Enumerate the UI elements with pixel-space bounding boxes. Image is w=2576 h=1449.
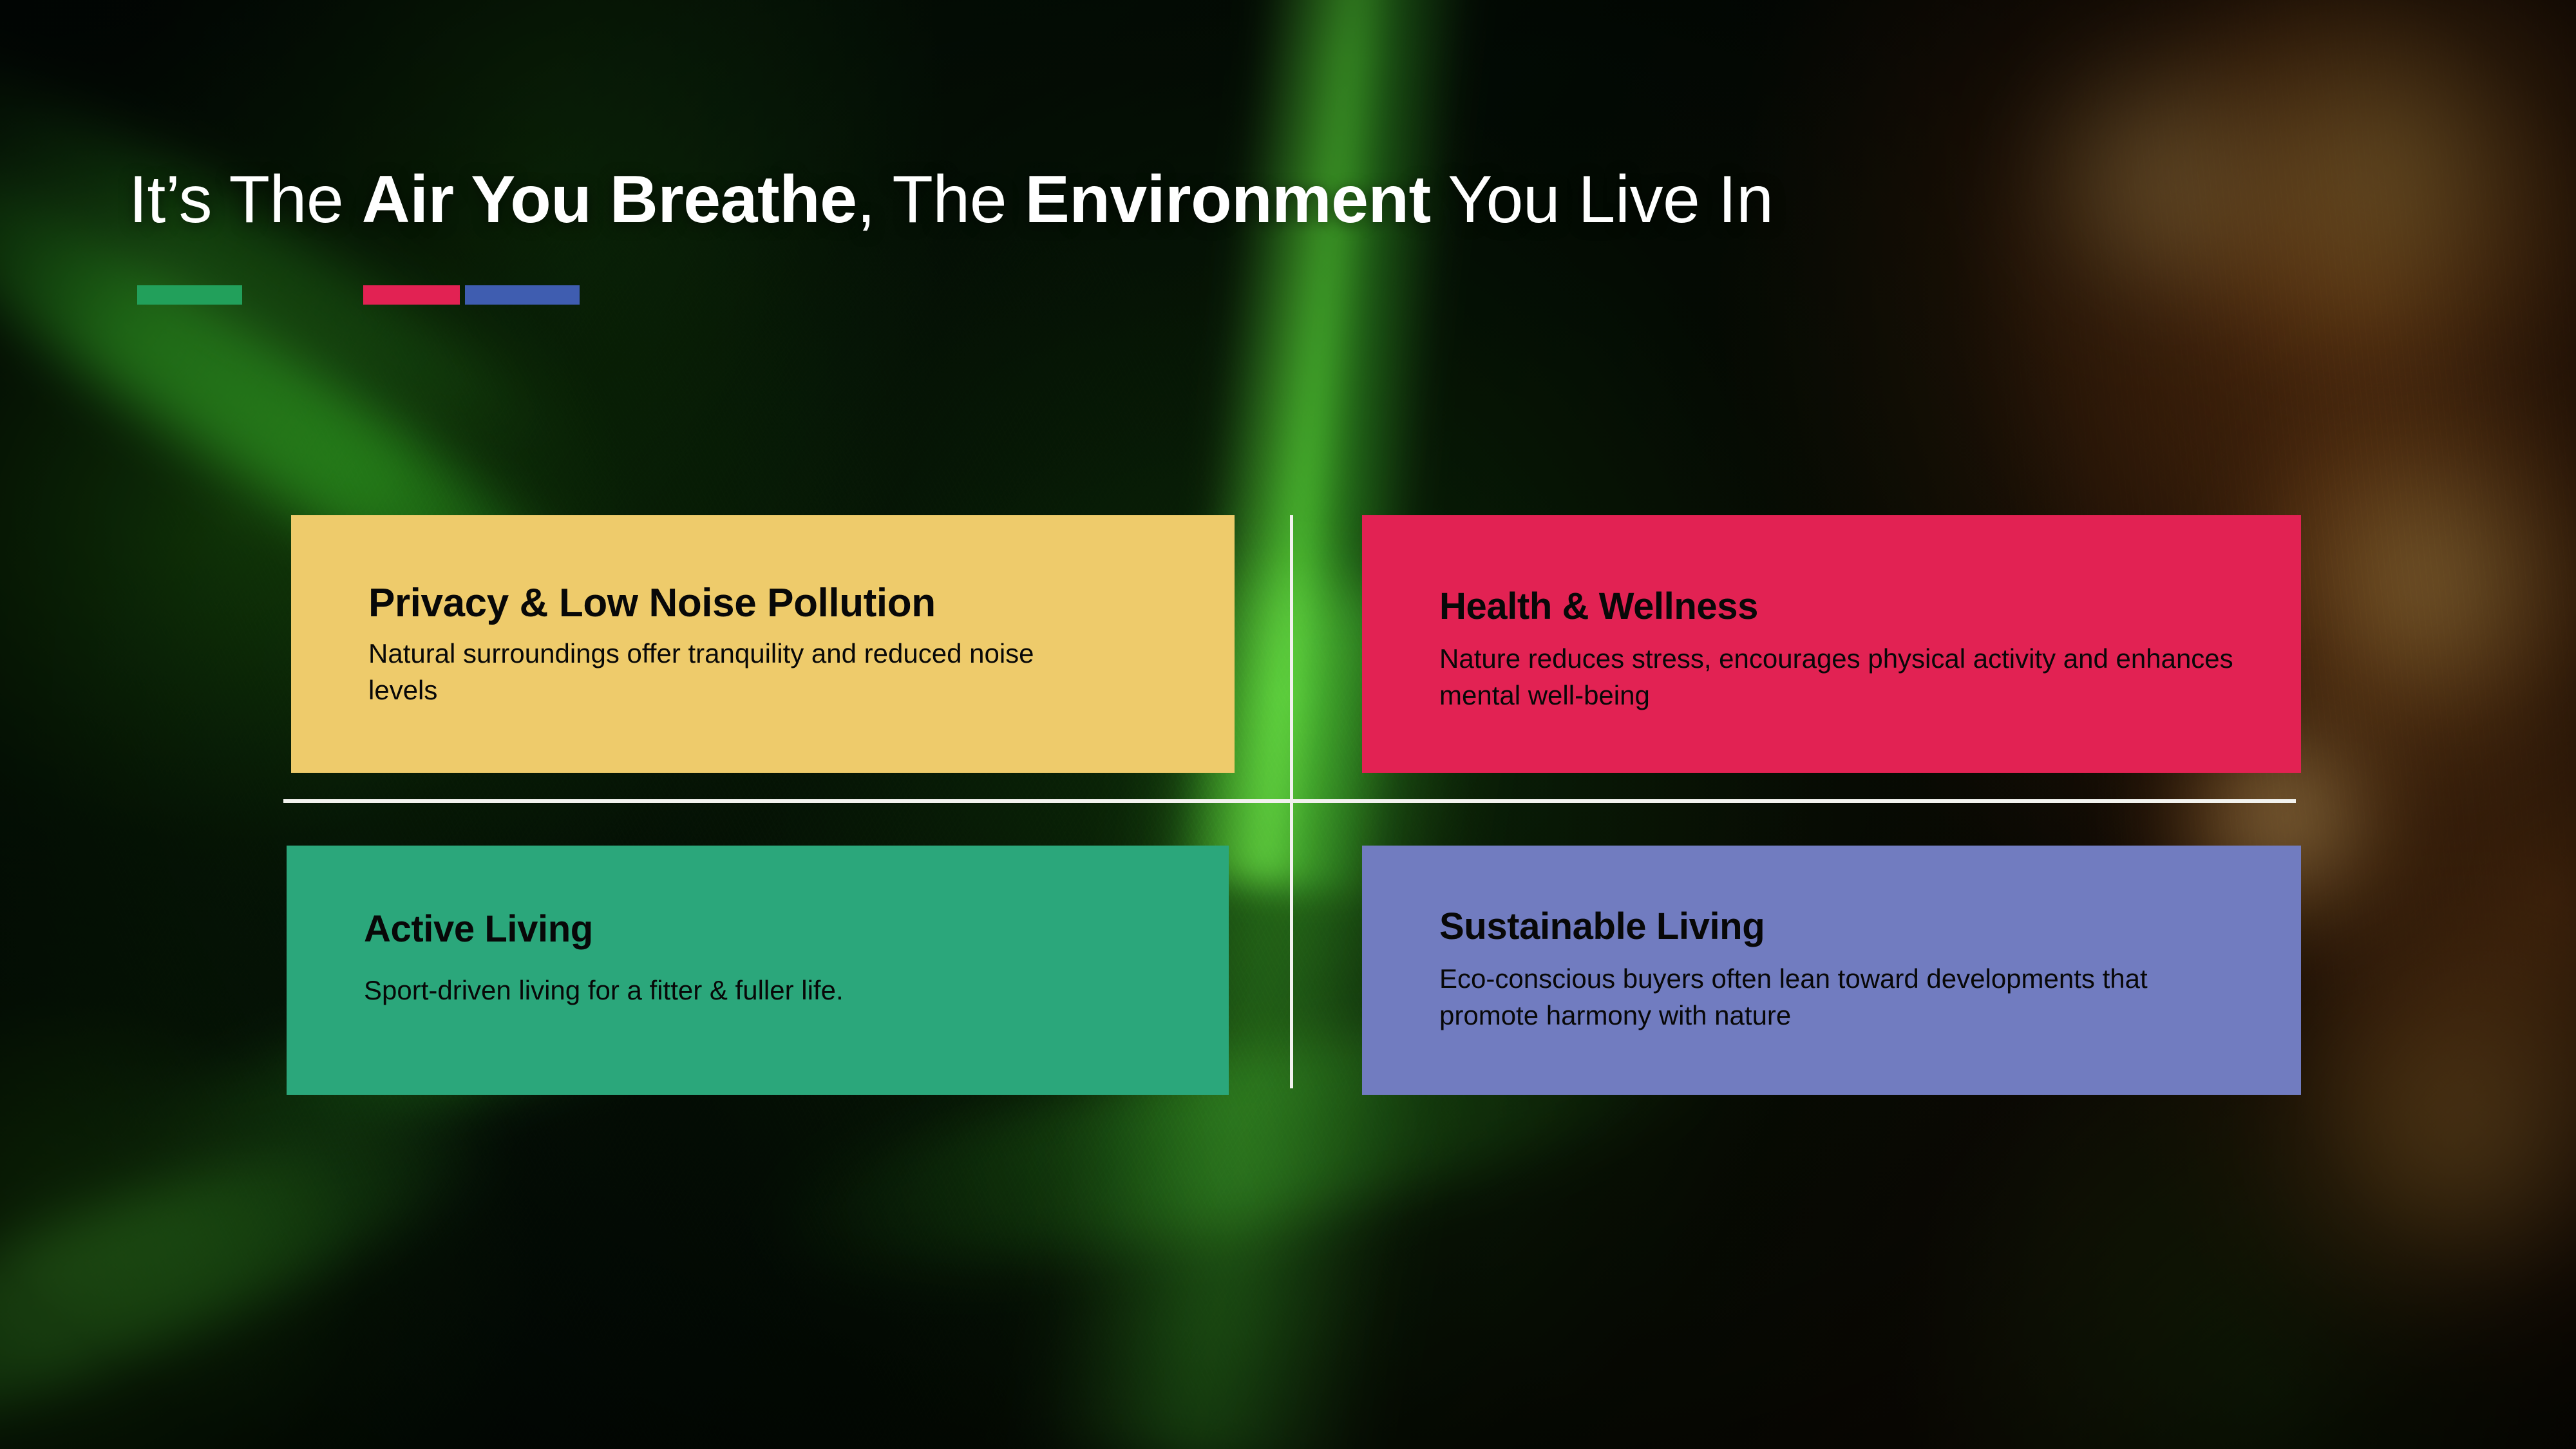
card-active-living-body: Sport-driven living for a fitter & fulle… [364, 972, 1124, 1009]
card-active-living[interactable]: Active Living Sport-driven living for a … [287, 846, 1229, 1095]
page-title-text: You Live In [1431, 162, 1774, 237]
slide-canvas: It’s The Air You Breathe, The Environmen… [0, 0, 2576, 1449]
card-health[interactable]: Health & Wellness Nature reduces stress,… [1362, 515, 2301, 773]
page-title-text: It’s The [129, 162, 362, 237]
page-title-emphasis: Air You Breathe [362, 162, 857, 237]
card-privacy-body: Natural surroundings offer tranquility a… [368, 636, 1064, 708]
card-sustainable-living-title: Sustainable Living [1439, 907, 2262, 947]
card-privacy-title: Privacy & Low Noise Pollution [368, 582, 1196, 624]
card-health-title: Health & Wellness [1439, 587, 2262, 627]
horizontal-divider [283, 799, 2296, 803]
accent-segment-blue [465, 285, 580, 305]
card-active-living-title: Active Living [364, 910, 1190, 949]
card-sustainable-living-body: Eco-conscious buyers often lean toward d… [1439, 961, 2212, 1034]
accent-segment-green [137, 285, 242, 305]
page-title-emphasis: Environment [1025, 162, 1431, 237]
card-health-body: Nature reduces stress, encourages physic… [1439, 641, 2251, 714]
accent-segment-crimson [363, 285, 460, 305]
page-title-text: , The [857, 162, 1025, 237]
page-title: It’s The Air You Breathe, The Environmen… [129, 166, 1773, 233]
card-sustainable-living[interactable]: Sustainable Living Eco-conscious buyers … [1362, 846, 2301, 1095]
accent-segment-amber [247, 285, 358, 305]
accent-bar [137, 285, 580, 305]
card-privacy[interactable]: Privacy & Low Noise Pollution Natural su… [291, 515, 1235, 773]
